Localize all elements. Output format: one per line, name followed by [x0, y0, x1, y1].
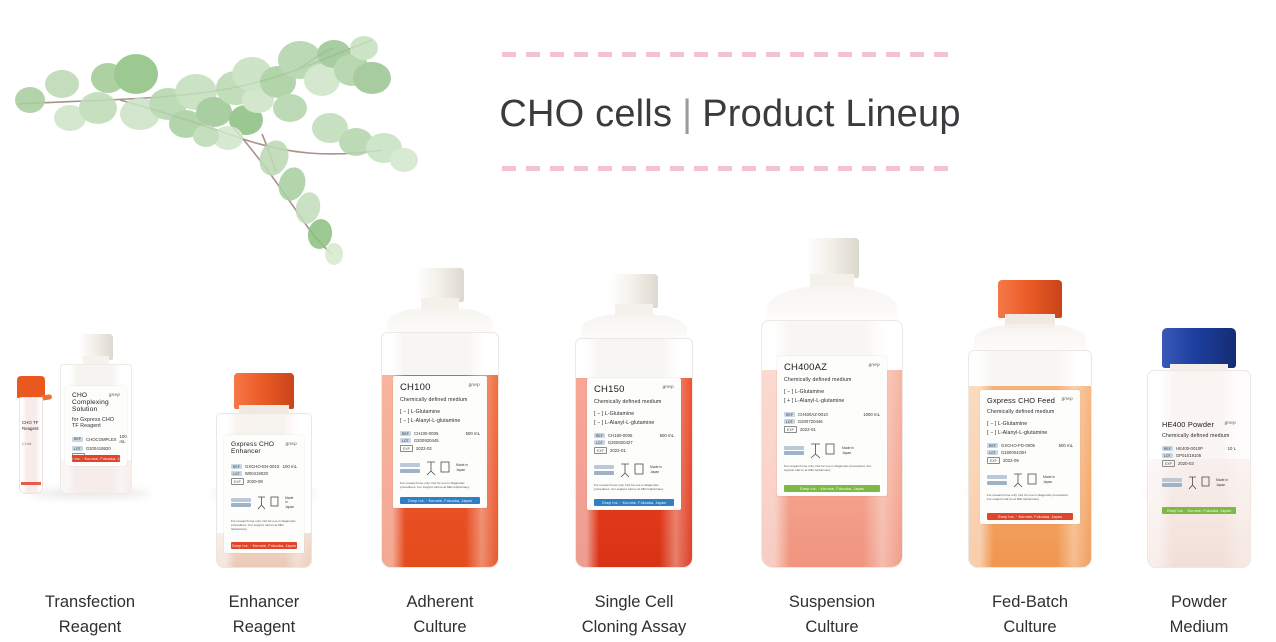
product-enhancer-reagent[interactable]: Gxpress CHO Enhancer gnep REFGXCHO-EN-00…: [176, 228, 352, 642]
label-expiry: 2022-02: [416, 446, 432, 451]
label-footer-bar: Gnep Inc. · Kurume, Fukuoka, Japan: [594, 499, 674, 506]
product-label-ch150: CH150 gnep Chemically defined medium [ −…: [587, 378, 681, 510]
made-in-label: Made inJapan: [1043, 475, 1055, 484]
bottle-he400-powder: HE400 Powder gnep Chemically defined med…: [1147, 328, 1251, 568]
page-title: CHO cells|Product Lineup: [430, 57, 1030, 166]
label-footer-bar: Gnep Inc. · Kurume, Fukuoka, Japan: [72, 455, 120, 462]
product-image-single-cell-cloning-assay: CH150 gnep Chemically defined medium [ −…: [546, 238, 722, 568]
caption-line-1: Transfection: [2, 590, 178, 615]
vial-label-volume: 1.2 mL: [22, 441, 40, 447]
label-title: CH100: [400, 382, 431, 393]
bottle-cap: [1162, 328, 1236, 368]
label-expiry: 2022-01: [610, 448, 626, 453]
product-label-ch400az: CH400AZ gnep Chemically defined medium […: [777, 356, 887, 496]
label-brand: gnep: [286, 441, 297, 446]
label-expiry: 2020-03: [1178, 461, 1194, 466]
label-footer-bar: Gnep Inc. · Kurume, Fukuoka, Japan: [400, 497, 480, 504]
bottle-cap: [610, 274, 658, 308]
bottle-cap: [416, 268, 464, 302]
label-footer-bar: Gnep Inc. · Kurume, Fukuoka, Japan: [987, 513, 1073, 520]
label-brand: gnep: [109, 392, 120, 397]
caption-line-1: Single Cell: [546, 590, 722, 615]
code-value: G200920445: [414, 438, 439, 443]
caption-line-2: Medium: [1122, 615, 1276, 640]
storage-icon: [424, 460, 452, 476]
slide-canvas: CHO cells|Product Lineup CHO TF Reagent …: [0, 0, 1276, 642]
code-chip: LOT: [987, 450, 998, 455]
code-value: W00419020: [245, 471, 268, 476]
caption-line-2: Reagent: [176, 615, 352, 640]
caption-line-2: Culture: [744, 615, 920, 640]
title-sub: Product Lineup: [702, 93, 960, 135]
code-chip: LOT: [1162, 453, 1173, 458]
label-expiry: 2020-08: [247, 479, 263, 484]
bottle-cap: [805, 238, 859, 278]
caption-line-1: Powder: [1122, 590, 1276, 615]
code-chip: REF: [72, 437, 83, 442]
label-component-1: [ − ] L-Glutamine: [784, 389, 880, 395]
product-caption-powder-medium: Powder Medium: [1122, 590, 1276, 640]
code-value: CH400AZ-0010: [798, 412, 828, 417]
label-component-2: [ + ] L-Alanyl-L-glutamine: [784, 398, 880, 404]
label-smallprint: For research use only. Not for use in di…: [231, 519, 297, 532]
product-label-he400-powder: HE400 Powder gnep Chemically defined med…: [1155, 414, 1243, 518]
storage-icon: [618, 462, 646, 478]
label-expiry: 2022-01: [800, 427, 816, 432]
label-component-2: [ − ] L-Alanyl-L-glutamine: [400, 418, 480, 424]
product-caption-transfection-reagent: Transfection Reagent: [2, 590, 178, 640]
code-value: G200419820: [86, 446, 111, 451]
code-volume: 100 mL: [283, 464, 297, 469]
product-transfection-reagent[interactable]: CHO TF Reagent 1.2 mL: [2, 228, 178, 642]
label-subtitle: Chemically defined medium: [987, 409, 1073, 415]
expiry-icon: EXP: [231, 478, 244, 485]
caption-line-2: Cloning Assay: [546, 615, 722, 640]
label-title: Gxpress CHO Feed: [987, 396, 1055, 405]
label-brand: gnep: [469, 382, 480, 387]
caption-line-1: Suspension: [744, 590, 920, 615]
label-subtitle: Chemically defined medium: [594, 399, 674, 405]
vial-label-title2: Reagent: [22, 426, 40, 432]
label-expiry: 2022-09: [1003, 458, 1019, 463]
bottle-cho-complexing-solution: CHO Complexing Solution gnep for Gxpress…: [60, 334, 132, 494]
label-subtitle: Chemically defined medium: [1162, 433, 1236, 439]
code-value: HE400-0010P: [1176, 446, 1203, 451]
code-chip: REF: [594, 433, 605, 438]
label-component-2: [ − ] L-Alanyl-L-glutamine: [987, 430, 1073, 436]
code-volume: 1000 mL: [863, 412, 880, 417]
product-caption-enhancer-reagent: Enhancer Reagent: [176, 590, 352, 640]
label-title: Gxpress CHO Enhancer: [231, 441, 286, 455]
label-component-1: [ − ] L-Glutamine: [594, 411, 674, 417]
made-in-label: Made inJapan: [456, 463, 468, 472]
expiry-icon: EXP: [784, 426, 797, 433]
label-title: CHO Complexing Solution: [72, 392, 109, 413]
product-adherent-culture[interactable]: CH100 gnep Chemically defined medium [ −…: [352, 228, 528, 642]
code-chip: LOT: [400, 438, 411, 443]
title-main: CHO cells: [499, 93, 672, 135]
vial-body: CHO TF Reagent 1.2 mL: [19, 397, 43, 494]
expiry-icon: EXP: [400, 445, 413, 452]
code-value: G200720446: [798, 419, 823, 424]
expiry-icon: EXP: [987, 457, 1000, 464]
title-rule-bottom: [502, 166, 958, 171]
made-in-label: Made inJapan: [285, 496, 297, 510]
label-component-2: [ − ] L-Alanyl-L-glutamine: [594, 420, 674, 426]
bottle-ch100: CH100 gnep Chemically defined medium [ −…: [381, 268, 499, 568]
label-subtitle: Chemically defined medium: [400, 397, 480, 403]
code-value: G200820427: [608, 440, 633, 445]
label-title: CH150: [594, 384, 625, 395]
product-caption-adherent-culture: Adherent Culture: [352, 590, 528, 640]
product-caption-fed-batch-culture: Fed-Batch Culture: [942, 590, 1118, 640]
title-block: CHO cells|Product Lineup: [430, 52, 1030, 171]
product-image-powder-medium: HE400 Powder gnep Chemically defined med…: [1122, 238, 1276, 568]
product-single-cell-cloning-assay[interactable]: CH150 gnep Chemically defined medium [ −…: [546, 228, 722, 642]
label-subtitle: for Gxpress CHO TF Reagent: [72, 417, 120, 429]
code-volume: 500 mL: [660, 433, 674, 438]
product-label-ch100: CH100 gnep Chemically defined medium [ −…: [393, 376, 487, 508]
storage-icon: [255, 495, 281, 510]
storage-icon: [1011, 472, 1039, 488]
product-image-transfection-reagent: CHO TF Reagent 1.2 mL: [2, 238, 178, 568]
code-chip: REF: [231, 464, 242, 469]
caption-line-1: Enhancer: [176, 590, 352, 615]
storage-icon: [1186, 475, 1212, 490]
bottle-ch400az: CH400AZ gnep Chemically defined medium […: [761, 238, 903, 568]
code-chip: REF: [1162, 446, 1173, 451]
made-in-label: Made inJapan: [842, 446, 854, 455]
expiry-icon: EXP: [1162, 460, 1175, 467]
product-lineup-row: CHO TF Reagent 1.2 mL: [0, 228, 1276, 642]
bottle-ch150: CH150 gnep Chemically defined medium [ −…: [575, 274, 693, 568]
label-smallprint: For research use only. Not for use in di…: [400, 481, 480, 489]
code-chip: REF: [400, 431, 411, 436]
product-label-gxpress-cho-enhancer: Gxpress CHO Enhancer gnep REFGXCHO-EN-00…: [224, 435, 304, 553]
bottle-cap: [998, 280, 1062, 318]
code-chip: LOT: [784, 419, 795, 424]
product-image-adherent-culture: CH100 gnep Chemically defined medium [ −…: [352, 238, 528, 568]
label-brand: gnep: [869, 362, 880, 367]
code-value: GXCHO-EN-0010: [245, 464, 279, 469]
product-image-enhancer-reagent: Gxpress CHO Enhancer gnep REFGXCHO-EN-00…: [176, 238, 352, 568]
caption-line-2: Culture: [942, 615, 1118, 640]
title-separator: |: [672, 93, 702, 135]
code-chip: REF: [987, 443, 998, 448]
product-suspension-culture[interactable]: CH400AZ gnep Chemically defined medium […: [744, 228, 920, 642]
code-chip: REF: [784, 412, 795, 417]
vial-cho-tf-reagent: CHO TF Reagent 1.2 mL: [16, 376, 46, 494]
caption-line-2: Culture: [352, 615, 528, 640]
product-label-gxpress-cho-feed: Gxpress CHO Feed gnep Chemically defined…: [980, 390, 1080, 524]
storage-icon: [808, 442, 838, 459]
product-fed-batch-culture[interactable]: Gxpress CHO Feed gnep Chemically defined…: [942, 228, 1118, 642]
code-volume: 100 mL: [120, 434, 127, 444]
label-title: CH400AZ: [784, 362, 827, 373]
label-subtitle: Chemically defined medium: [784, 377, 880, 383]
product-caption-suspension-culture: Suspension Culture: [744, 590, 920, 640]
expiry-icon: EXP: [594, 447, 607, 454]
label-brand: gnep: [663, 384, 674, 389]
label-footer-bar: Gnep Inc. · Kurume, Fukuoka, Japan: [231, 542, 297, 549]
product-image-suspension-culture: CH400AZ gnep Chemically defined medium […: [744, 238, 920, 568]
code-value: GXCHO-FD-0005: [1001, 443, 1035, 448]
label-footer-bar: Gnep Inc. · Kurume, Fukuoka, Japan: [1162, 507, 1236, 514]
code-volume: 10 L: [1228, 446, 1236, 451]
code-value: GP01019105: [1176, 453, 1201, 458]
label-smallprint: For research use only. Not for use in di…: [594, 483, 674, 491]
label-brand: gnep: [1225, 420, 1236, 425]
caption-line-2: Reagent: [2, 615, 178, 640]
label-brand: gnep: [1062, 396, 1073, 401]
code-volume: 500 mL: [466, 431, 480, 436]
made-in-label: Made inJapan: [650, 465, 662, 474]
product-powder-medium[interactable]: HE400 Powder gnep Chemically defined med…: [1122, 228, 1276, 642]
code-value: CH100-0005: [414, 431, 438, 436]
code-chip: LOT: [72, 446, 83, 451]
bottle-gxpress-cho-feed: Gxpress CHO Feed gnep Chemically defined…: [968, 280, 1092, 568]
bottle-cap: [234, 373, 294, 409]
label-component-1: [ − ] L-Glutamine: [400, 409, 480, 415]
label-smallprint: For research use only. Not for use in di…: [784, 464, 880, 472]
made-in-label: Made inJapan: [1216, 478, 1228, 487]
product-label-cho-complexing-solution: CHO Complexing Solution gnep for Gxpress…: [65, 386, 127, 466]
code-value: CH150-0005: [608, 433, 632, 438]
code-value: CHOCOMPLEX: [86, 437, 117, 442]
caption-line-1: Adherent: [352, 590, 528, 615]
product-caption-single-cell-cloning-assay: Single Cell Cloning Assay: [546, 590, 722, 640]
bottle-gxpress-cho-enhancer: Gxpress CHO Enhancer gnep REFGXCHO-EN-00…: [216, 373, 312, 568]
code-value: G19000420H: [1001, 450, 1027, 455]
code-chip: LOT: [231, 471, 242, 476]
product-image-fed-batch-culture: Gxpress CHO Feed gnep Chemically defined…: [942, 238, 1118, 568]
label-component-1: [ − ] L-Glutamine: [987, 421, 1073, 427]
caption-line-1: Fed-Batch: [942, 590, 1118, 615]
code-chip: LOT: [594, 440, 605, 445]
label-footer-bar: Gnep Inc. · Kurume, Fukuoka, Japan: [784, 485, 880, 492]
label-smallprint: For research use only. Not for use in di…: [987, 493, 1073, 501]
label-title: HE400 Powder: [1162, 420, 1214, 429]
code-volume: 500 mL: [1059, 443, 1073, 448]
